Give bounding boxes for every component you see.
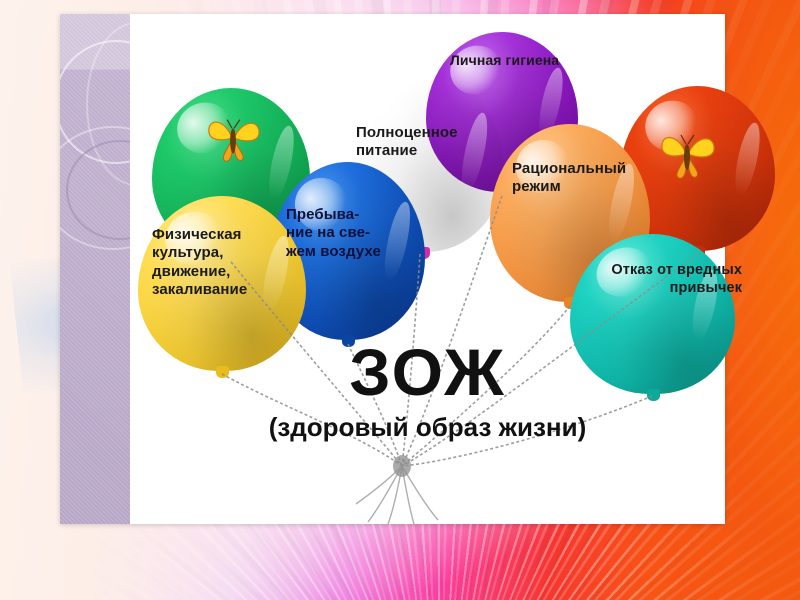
slide-decorative-strip <box>60 14 130 524</box>
butterfly-icon <box>656 126 718 180</box>
balloon-highlight-edge <box>730 121 764 197</box>
balloon-highlight-edge <box>457 110 493 193</box>
page-subtitle: (здоровый образ жизни) <box>130 412 725 443</box>
balloon-highlight-edge <box>604 162 639 244</box>
butterfly-icon <box>204 112 262 164</box>
page-title: ЗОЖ <box>130 334 725 410</box>
balloon-highlight-edge <box>258 233 294 314</box>
balloon-highlight-edge <box>380 200 415 282</box>
balloon-highlight-edge <box>688 268 722 343</box>
balloon-highlight <box>170 95 239 162</box>
balloon-highlight <box>360 80 431 151</box>
balloon-highlight <box>637 93 704 159</box>
presentation-slide: Физическая культура, движение, закаливан… <box>60 14 725 524</box>
balloon-illustration: Физическая культура, движение, закаливан… <box>130 14 725 524</box>
